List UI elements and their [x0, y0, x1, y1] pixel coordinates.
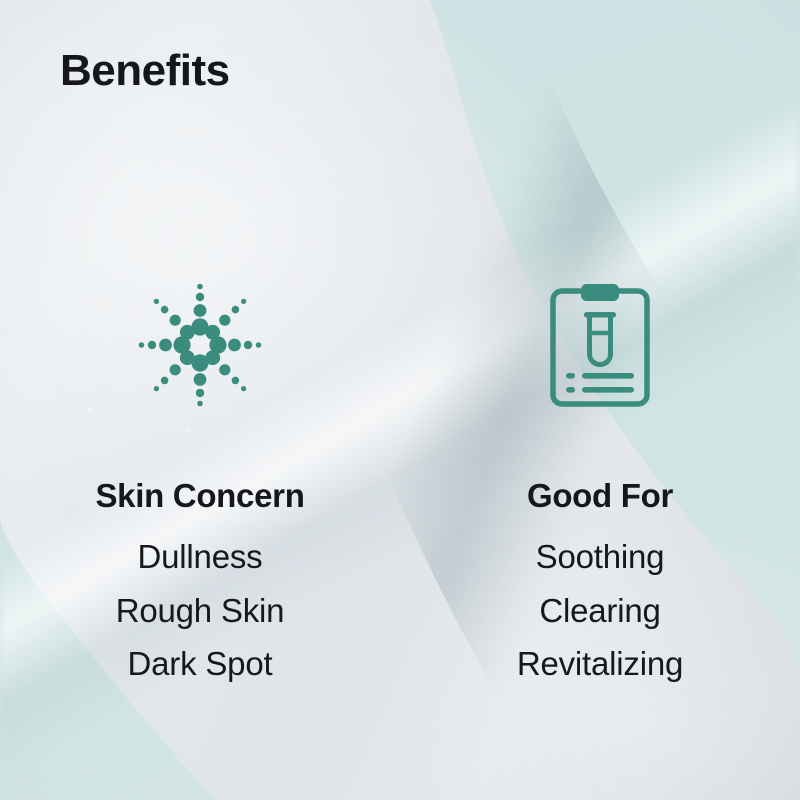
benefit-list: Soothing Clearing Revitalizing [517, 530, 683, 690]
benefit-list: Dullness Rough Skin Dark Spot [116, 530, 285, 690]
dotted-starburst-icon [135, 280, 265, 410]
benefits-panel: Benefits [0, 0, 800, 800]
benefit-column-skin-concern: Skin Concern Dullness Rough Skin Dark Sp… [0, 270, 400, 691]
content-layer: Benefits [0, 0, 800, 800]
icon-container [135, 270, 265, 420]
list-item: Clearing [517, 584, 683, 637]
benefits-columns: Skin Concern Dullness Rough Skin Dark Sp… [0, 270, 800, 691]
icon-container [548, 270, 652, 420]
column-heading: Good For [527, 478, 673, 514]
clipboard-test-tube-icon [548, 281, 652, 409]
benefit-column-good-for: Good For Soothing Clearing Revitalizing [400, 270, 800, 691]
column-heading: Skin Concern [95, 478, 304, 514]
list-item: Soothing [517, 530, 683, 583]
list-item: Dark Spot [116, 637, 285, 690]
list-item: Rough Skin [116, 584, 285, 637]
list-item: Revitalizing [517, 637, 683, 690]
page-title: Benefits [60, 48, 230, 94]
list-item: Dullness [116, 530, 285, 583]
